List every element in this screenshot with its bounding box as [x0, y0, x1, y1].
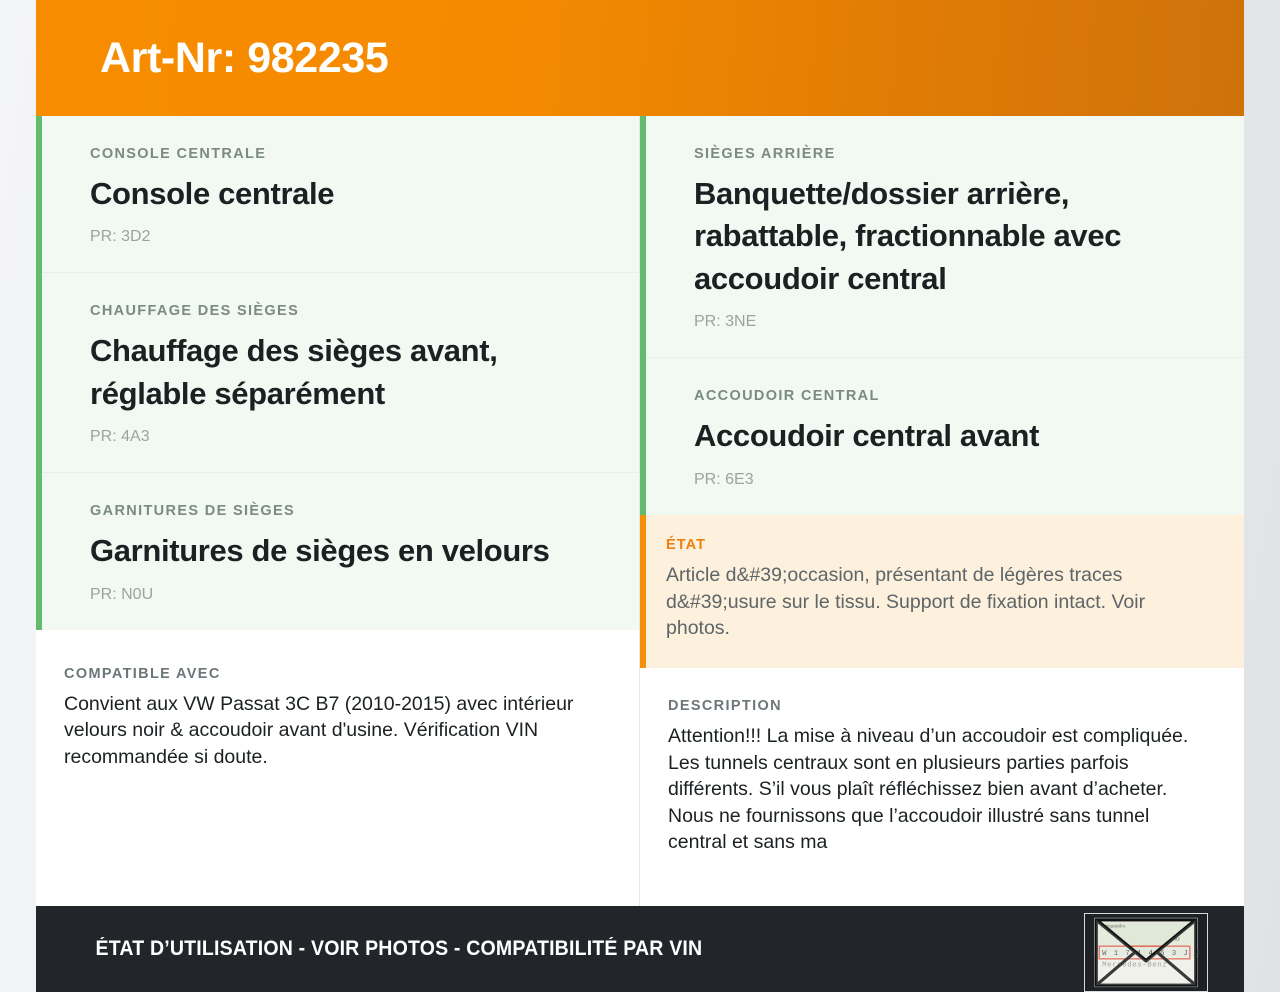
spec-eyebrow: ACCOUDOIR CENTRAL — [694, 388, 1214, 404]
right-spec-group: SIÈGES ARRIÈRE Banquette/dossier arrière… — [640, 116, 1244, 515]
compatibility-eyebrow: COMPATIBLE AVEC — [64, 666, 599, 682]
envelope-icon: Fahrgestellnr. Au W 1 7 1 4 6 3 J 3 1 4 … — [1085, 914, 1207, 991]
state-eyebrow: ÉTAT — [666, 537, 1204, 553]
right-column: SIÈGES ARRIÈRE Banquette/dossier arrière… — [640, 116, 1244, 906]
spec-value: Chauffage des sièges avant, réglable sép… — [90, 330, 609, 415]
vin-document-thumbnail[interactable]: Fahrgestellnr. Au W 1 7 1 4 6 3 J 3 1 4 … — [1084, 913, 1208, 992]
spec-pr-code: PR: 3NE — [694, 313, 1214, 331]
spec-value: Console centrale — [90, 173, 609, 215]
right-column-spacer — [640, 882, 1244, 906]
footer-bar: ÉTAT D’UTILISATION - VOIR PHOTOS - COMPA… — [36, 906, 1244, 992]
spec-value: Accoudoir central avant — [694, 415, 1214, 457]
footer-tagline: ÉTAT D’UTILISATION - VOIR PHOTOS - COMPA… — [36, 937, 702, 961]
spec-pr-code: PR: 3D2 — [90, 228, 609, 246]
columns-container: CONSOLE CENTRALE Console centrale PR: 3D… — [36, 116, 1244, 906]
product-sheet: Art-Nr: 982235 CONSOLE CENTRALE Console … — [36, 0, 1244, 992]
spec-eyebrow: GARNITURES DE SIÈGES — [90, 503, 609, 519]
state-card: ÉTAT Article d&#39;occasion, présentant … — [640, 515, 1244, 668]
description-block: DESCRIPTION Attention!!! La mise à nivea… — [640, 668, 1244, 882]
compatibility-block: COMPATIBLE AVEC Convient aux VW Passat 3… — [36, 630, 639, 797]
spec-eyebrow: CONSOLE CENTRALE — [90, 146, 609, 162]
spec-card-accoudoir-central: ACCOUDOIR CENTRAL Accoudoir central avan… — [646, 358, 1244, 514]
header-bar: Art-Nr: 982235 — [36, 0, 1244, 116]
description-eyebrow: DESCRIPTION — [668, 698, 1204, 714]
spec-pr-code: PR: 4A3 — [90, 428, 609, 446]
spec-value: Garnitures de sièges en velours — [90, 530, 609, 572]
compatibility-text: Convient aux VW Passat 3C B7 (2010-2015)… — [64, 691, 599, 771]
left-column: CONSOLE CENTRALE Console centrale PR: 3D… — [36, 116, 640, 906]
spec-card-garnitures-de-sieges: GARNITURES DE SIÈGES Garnitures de siège… — [42, 473, 639, 629]
page-title: Art-Nr: 982235 — [36, 37, 388, 80]
spec-eyebrow: CHAUFFAGE DES SIÈGES — [90, 303, 609, 319]
spec-card-sieges-arriere: SIÈGES ARRIÈRE Banquette/dossier arrière… — [646, 116, 1244, 358]
spec-card-chauffage-des-sieges: CHAUFFAGE DES SIÈGES Chauffage des siège… — [42, 273, 639, 473]
spec-pr-code: PR: N0U — [90, 586, 609, 604]
left-spec-group: CONSOLE CENTRALE Console centrale PR: 3D… — [36, 116, 639, 630]
state-text: Article d&#39;occasion, présentant de lé… — [666, 562, 1204, 642]
spec-value: Banquette/dossier arrière, rabattable, f… — [694, 173, 1214, 300]
spec-eyebrow: SIÈGES ARRIÈRE — [694, 146, 1214, 162]
description-text: Attention!!! La mise à niveau d’un accou… — [668, 723, 1204, 856]
spec-pr-code: PR: 6E3 — [694, 471, 1214, 489]
left-column-spacer — [36, 796, 639, 906]
spec-card-console-centrale: CONSOLE CENTRALE Console centrale PR: 3D… — [42, 116, 639, 273]
